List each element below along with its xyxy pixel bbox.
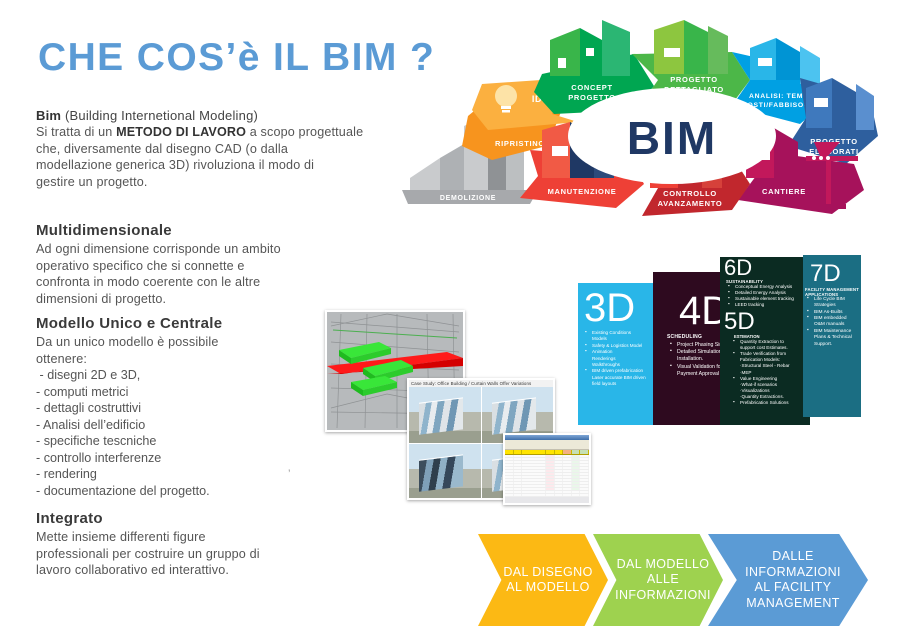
dimension-subtitle: FACILITY MANAGEMENT APPLICATIONS — [805, 287, 861, 297]
dimension-panel-6d-5d: 6D SUSTAINABILITY Conceptual Energy Anal… — [720, 257, 810, 425]
definition-block: Bim (Building Internetional Modeling) Si… — [36, 108, 411, 190]
list-item: - documentazione del progetto. — [36, 483, 346, 500]
arrow-dal-disegno-al-modello[interactable]: DAL DISEGNOAL MODELLO — [478, 534, 608, 626]
list-item: - dettagli costruttivi — [36, 400, 346, 417]
wheel-svg: DEMOLIZIONE RIPRISTINO IDEA — [402, 18, 902, 248]
list-item: field layouts — [586, 381, 660, 387]
table-row — [505, 494, 589, 497]
dimension-number: 7D — [810, 263, 861, 286]
section-line: dimensioni di progetto. — [36, 292, 166, 306]
section-line: professionali per costruire un gruppo di — [36, 547, 260, 561]
section-line: ottenere: — [36, 352, 87, 366]
list-item: - specifiche tescniche — [36, 433, 346, 450]
definition-line-1: che, diversamente dal disegno CAD (o dal… — [36, 142, 288, 156]
case-study-caption: Case Study: Office Building / Curtain Wa… — [409, 380, 553, 387]
definition-body: Si tratta di un METODO DI LAVORO a scopo… — [36, 124, 411, 190]
slide-canvas: CHE COS’è IL BIM ? Bim (Building Interne… — [0, 0, 907, 641]
section-heading: Multidimensionale — [36, 222, 346, 239]
definition-lead-bold: Bim — [36, 108, 61, 123]
wheel-label-manutenzione: MANUTENZIONE — [548, 187, 617, 196]
dimension-panel-3d: 3D Existing Conditions Models Safety & L… — [578, 283, 660, 425]
section-line: Da un unico modello è possibile — [36, 335, 218, 349]
arrow-label: DAL DISEGNOAL MODELLO — [493, 565, 592, 596]
wheel-label-cantiere: CANTIERE — [762, 187, 806, 196]
dimension-panel-7d: 7D FACILITY MANAGEMENT APPLICATIONS Life… — [803, 255, 861, 417]
definition-lead: Bim (Building Internetional Modeling) — [36, 108, 411, 123]
wheel-label-controllo-1: CONTROLLO — [663, 189, 717, 198]
model-output-list: - disegni 2D e 3D, - computi metrici - d… — [36, 367, 346, 499]
arrow-label: DALLEINFORMAZIONIAL FACILITYMANAGEMENT — [735, 549, 841, 611]
arrow-dalle-informazioni-al-facility-management[interactable]: DALLEINFORMAZIONIAL FACILITYMANAGEMENT — [708, 534, 868, 626]
dimension-number: 6D — [724, 258, 810, 279]
wheel-label-controllo-2: AVANZAMENTO — [658, 199, 723, 208]
wheel-label-demolizione: DEMOLIZIONE — [440, 195, 496, 202]
arrow-dal-modello-alle-informazioni[interactable]: DAL MODELLOALLEINFORMAZIONI — [593, 534, 723, 626]
list-item: - Analisi dell’edificio — [36, 417, 346, 434]
spreadsheet-rows — [505, 455, 589, 497]
definition-lead-rest: (Building Internetional Modeling) — [61, 108, 258, 123]
list-item: - rendering — [36, 466, 346, 483]
page-title: CHE COS’è IL BIM ? — [38, 36, 435, 80]
list-item: - disegni 2D e 3D, — [36, 367, 346, 384]
wheel-label-analisi-1: ANALISI: TEMPI — [749, 93, 811, 100]
bim-dimensions-panels: 3D Existing Conditions Models Safety & L… — [575, 255, 865, 425]
section-multidimensionale: Multidimensionale Ad ogni dimensione cor… — [36, 222, 346, 307]
section-line: confronta in modo coerente con le altre — [36, 275, 260, 289]
dimension-number: 3D — [584, 289, 660, 327]
section-body: Mette insieme differenti figure professi… — [36, 529, 346, 579]
wheel-label-concept: CONCEPT — [571, 83, 613, 92]
definition-line-0: Si tratta di un METODO DI LAVORO a scopo… — [36, 125, 363, 139]
section-integrato: Integrato Mette insieme differenti figur… — [36, 510, 346, 579]
dimension-items: Conceptual Energy Analysis Detailed Ener… — [729, 284, 810, 308]
section-heading: Modello Unico e Centrale — [36, 315, 346, 332]
stray-apostrophe-mark: ’ — [288, 468, 290, 480]
wheel-label-ripristino: RIPRISTINO — [495, 139, 545, 148]
bim-lifecycle-wheel: DEMOLIZIONE RIPRISTINO IDEA — [402, 18, 902, 248]
list-item: Support. — [808, 342, 861, 348]
section-heading: Integrato — [36, 510, 346, 527]
definition-emphasis: METODO DI LAVORO — [116, 125, 246, 139]
spreadsheet-screenshot — [503, 433, 591, 505]
dimension-items: Existing Conditions Models Safety & Logi… — [586, 330, 660, 388]
section-line: Ad ogni dimensione corrisponde un ambito — [36, 242, 281, 256]
section-modello-unico: Modello Unico e Centrale Da un unico mod… — [36, 315, 346, 499]
list-item: LEED tracking — [729, 302, 810, 308]
list-item: - controllo interferenze — [36, 450, 346, 467]
render-view-1 — [409, 387, 481, 443]
definition-line-2: modellazione generica 3D) rivoluziona il… — [36, 158, 314, 172]
definition-line-3: gestire un progetto. — [36, 175, 148, 189]
section-line: operativo specifico che si connette e — [36, 259, 245, 273]
dimension-number-5d: 5D — [724, 311, 810, 334]
render-view-3 — [409, 444, 481, 500]
process-arrows: DAL DISEGNOAL MODELLO DAL MODELLOALLEINF… — [478, 534, 890, 630]
dimension-items: Life Cycle BIM Strategies BIM As-Builts … — [808, 297, 861, 348]
wheel-label-progetto-dettagliato-1: PROGETTO — [670, 75, 718, 84]
section-body: Da un unico modello è possibile ottenere… — [36, 334, 346, 367]
arrow-label: DAL MODELLOALLEINFORMAZIONI — [605, 557, 711, 604]
dimension-items-5d: Quantity Extraction to support cost Esti… — [734, 339, 810, 406]
section-body: Ad ogni dimensione corrisponde un ambito… — [36, 241, 346, 307]
screenshot-collage: Case Study: Office Building / Curtain Wa… — [325, 300, 590, 505]
section-line: Mette insieme differenti figure — [36, 530, 206, 544]
list-item: - computi metrici — [36, 384, 346, 401]
section-line: lavoro collaborativo ed interattivo. — [36, 563, 229, 577]
wheel-center-word: BIM — [627, 112, 717, 164]
list-item: Prefabrication Solutions — [734, 400, 810, 406]
